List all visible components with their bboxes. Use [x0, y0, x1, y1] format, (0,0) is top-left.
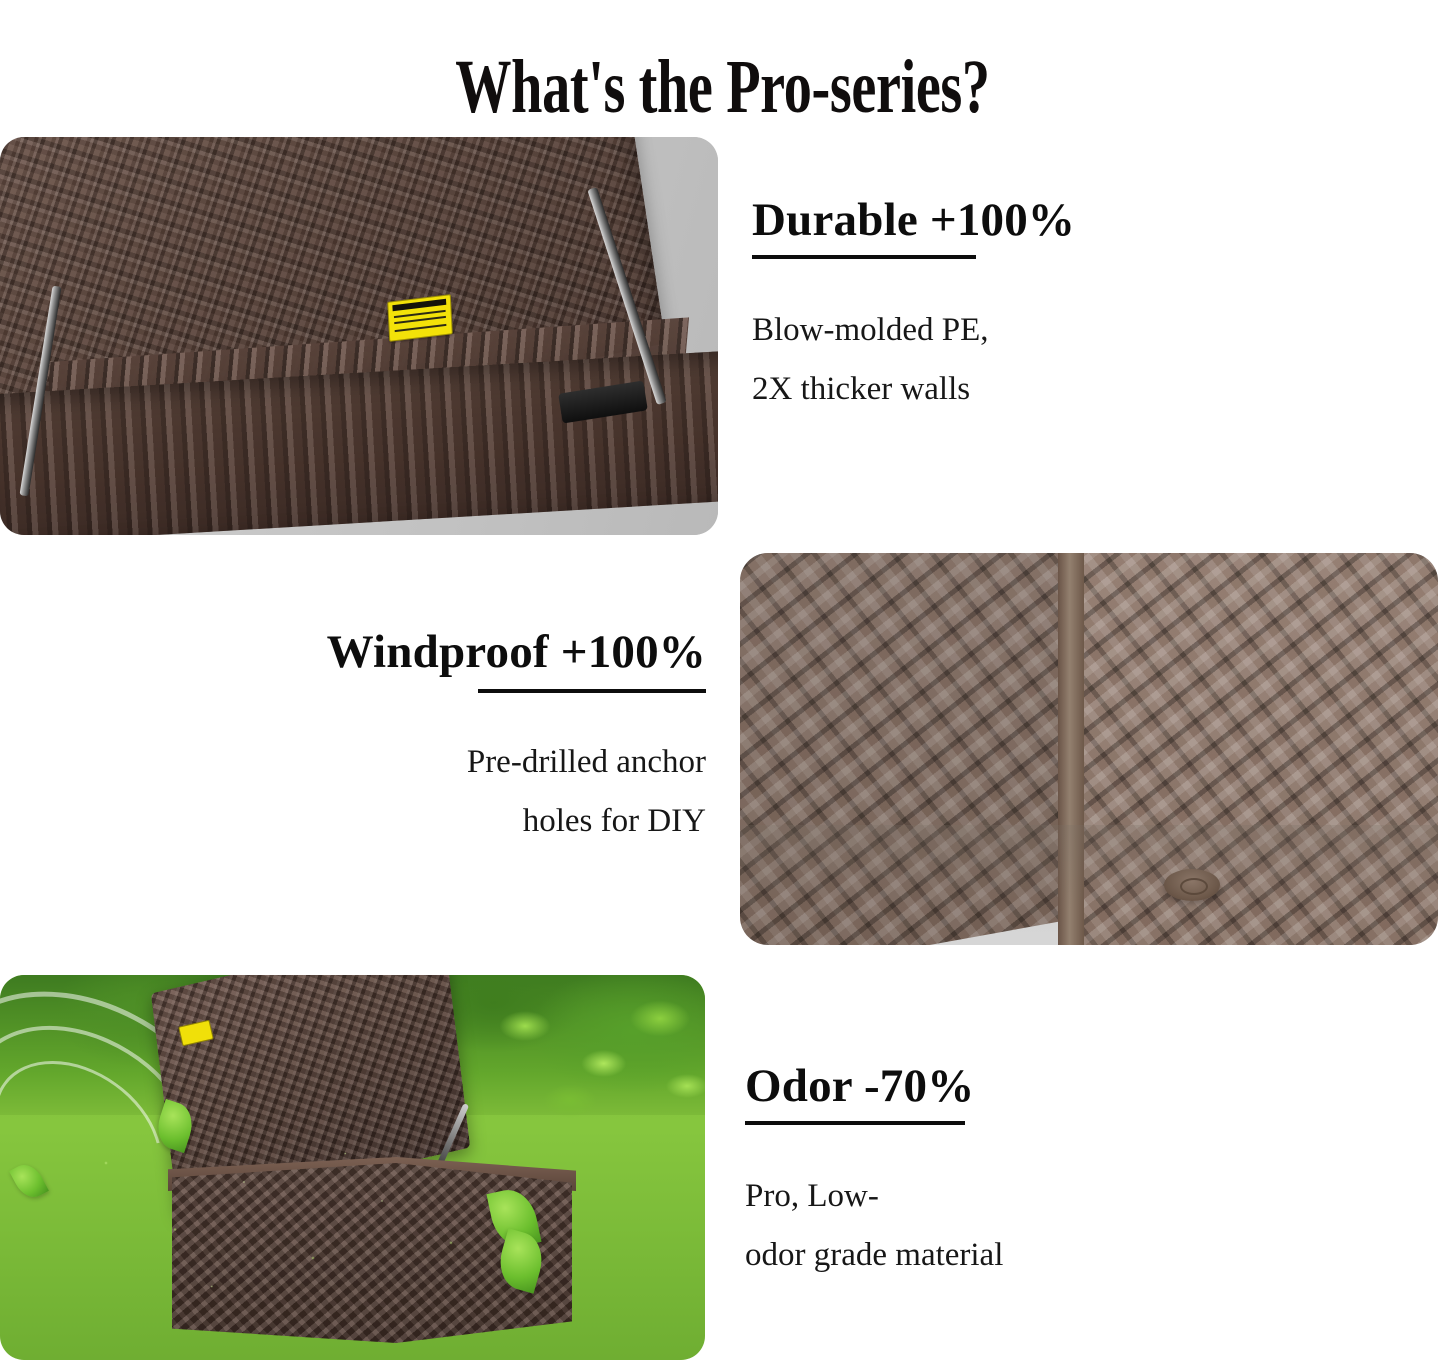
feature-heading-windproof: Windproof +100% [244, 628, 706, 678]
warning-label-sticker [387, 294, 453, 342]
garden-shrub [480, 981, 705, 1131]
feature-body-line-odor-2: odor grade material [745, 1226, 1165, 1285]
heading-underline-durable [752, 255, 976, 259]
heading-underline-windproof [478, 689, 706, 693]
feature-body-line-durable-1: Blow-molded PE, [752, 301, 1222, 360]
feature-heading-durable: Durable +100% [752, 196, 1222, 246]
feature-block-durable: Durable +100% Blow-molded PE, 2X thicker… [752, 196, 1222, 418]
feature-body-line-odor-1: Pro, Low- [745, 1167, 1165, 1226]
feature-body-line-windproof-1: Pre-drilled anchor [244, 733, 706, 792]
feature-body-line-durable-2: 2X thicker walls [752, 360, 1222, 419]
warning-label-header [392, 299, 446, 312]
product-image-open-box [0, 137, 718, 535]
feature-block-windproof: Windproof +100% Pre-drilled anchor holes… [244, 628, 706, 850]
floor-shadow [740, 825, 1438, 945]
heading-underline-odor [745, 1121, 965, 1125]
feature-block-odor: Odor -70% Pro, Low- odor grade material [745, 1062, 1165, 1284]
product-image-lawn-scene [0, 975, 705, 1360]
product-image-wicker-corner [740, 553, 1438, 945]
warning-label-text-line [395, 324, 447, 332]
feature-heading-odor: Odor -70% [745, 1062, 1165, 1112]
feature-body-line-windproof-2: holes for DIY [244, 792, 706, 851]
page-title: What's the Pro-series? [188, 45, 1257, 130]
